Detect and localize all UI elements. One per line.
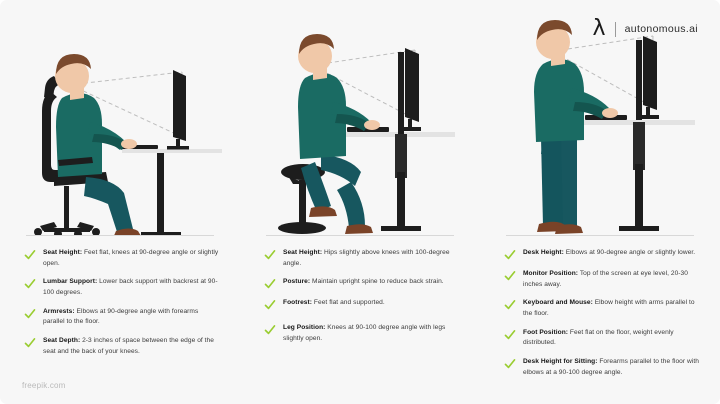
tip-item: Desk Height for Sitting: Forearms parall… xyxy=(504,357,700,378)
check-icon xyxy=(24,308,36,320)
check-icon xyxy=(504,249,516,261)
tip-text: Monitor Position: Top of the screen at e… xyxy=(523,269,700,290)
ergonomics-infographic: λ autonomous.ai xyxy=(0,0,720,404)
saddle-stool-figure xyxy=(255,22,465,236)
tip-item: Monitor Position: Top of the screen at e… xyxy=(504,269,700,290)
tip-detail: Elbows at 90-degree angle or slightly lo… xyxy=(564,249,695,256)
check-icon xyxy=(504,329,516,341)
tip-text: Desk Height for Sitting: Forearms parall… xyxy=(523,357,700,378)
tip-item: Foot Position: Feet flat on the floor, w… xyxy=(504,328,700,349)
standing-desk-figure xyxy=(495,14,705,236)
tip-item: Lumbar Support: Lower back support with … xyxy=(24,277,220,298)
tip-text: Seat Height: Hips slightly above knees w… xyxy=(283,248,460,269)
tip-term: Footrest: xyxy=(283,299,312,306)
check-icon xyxy=(24,337,36,349)
tip-term: Monitor Position: xyxy=(523,270,578,277)
tip-item: Footrest: Feet flat and supported. xyxy=(264,298,460,311)
tip-text: Posture: Maintain upright spine to reduc… xyxy=(283,277,444,288)
tip-text: Keyboard and Mouse: Elbow height with ar… xyxy=(523,298,700,319)
check-icon xyxy=(24,249,36,261)
check-icon xyxy=(264,278,276,290)
tips-list-perched-saddle-stool: Seat Height: Hips slightly above knees w… xyxy=(240,236,480,345)
tip-detail: Maintain upright spine to reduce back st… xyxy=(310,278,444,285)
tip-term: Desk Height for Sitting: xyxy=(523,358,597,365)
freepik-watermark: freepik.com xyxy=(22,381,66,390)
illustration-seated-ergonomic-chair xyxy=(0,0,240,236)
tip-term: Seat Height: xyxy=(43,249,82,256)
check-icon xyxy=(504,270,516,282)
seated-chair-figure xyxy=(10,36,230,236)
tip-term: Armrests: xyxy=(43,308,75,315)
tip-term: Lumbar Support: xyxy=(43,278,97,285)
tip-item: Posture: Maintain upright spine to reduc… xyxy=(264,277,460,290)
tip-term: Keyboard and Mouse: xyxy=(523,299,593,306)
tip-item: Leg Position: Knees at 90-100 degree ang… xyxy=(264,323,460,344)
tip-item: Seat Height: Feet flat, knees at 90-degr… xyxy=(24,248,220,269)
column-seated-ergonomic-chair: Seat Height: Feet flat, knees at 90-degr… xyxy=(0,0,240,404)
tip-term: Seat Height: xyxy=(283,249,322,256)
illustration-standing-desk xyxy=(480,0,720,236)
column-perched-saddle-stool: Seat Height: Hips slightly above knees w… xyxy=(240,0,480,404)
tip-text: Desk Height: Elbows at 90-degree angle o… xyxy=(523,248,695,259)
tip-text: Seat Depth: 2-3 inches of space between … xyxy=(43,336,220,357)
posture-columns: Seat Height: Feet flat, knees at 90-degr… xyxy=(0,0,720,404)
check-icon xyxy=(264,299,276,311)
ground-line xyxy=(26,235,214,236)
tip-item: Seat Depth: 2-3 inches of space between … xyxy=(24,336,220,357)
tips-list-standing-desk: Desk Height: Elbows at 90-degree angle o… xyxy=(480,236,720,378)
tip-term: Leg Position: xyxy=(283,324,325,331)
tip-term: Seat Depth: xyxy=(43,337,80,344)
tip-text: Footrest: Feet flat and supported. xyxy=(283,298,385,309)
tip-item: Desk Height: Elbows at 90-degree angle o… xyxy=(504,248,700,261)
tip-item: Keyboard and Mouse: Elbow height with ar… xyxy=(504,298,700,319)
tip-text: Leg Position: Knees at 90-100 degree ang… xyxy=(283,323,460,344)
check-icon xyxy=(24,278,36,290)
ground-line xyxy=(506,235,694,236)
ground-line xyxy=(266,235,454,236)
check-icon xyxy=(504,358,516,370)
tip-text: Foot Position: Feet flat on the floor, w… xyxy=(523,328,700,349)
tip-item: Seat Height: Hips slightly above knees w… xyxy=(264,248,460,269)
tips-list-seated-ergonomic-chair: Seat Height: Feet flat, knees at 90-degr… xyxy=(0,236,240,357)
tip-term: Desk Height: xyxy=(523,249,564,256)
tip-text: Lumbar Support: Lower back support with … xyxy=(43,277,220,298)
column-standing-desk: Desk Height: Elbows at 90-degree angle o… xyxy=(480,0,720,404)
check-icon xyxy=(264,249,276,261)
check-icon xyxy=(264,324,276,336)
check-icon xyxy=(504,299,516,311)
tip-detail: Feet flat and supported. xyxy=(312,299,385,306)
tip-item: Armrests: Elbows at 90-degree angle with… xyxy=(24,307,220,328)
tip-term: Foot Position: xyxy=(523,329,568,336)
tip-text: Armrests: Elbows at 90-degree angle with… xyxy=(43,307,220,328)
tip-text: Seat Height: Feet flat, knees at 90-degr… xyxy=(43,248,220,269)
illustration-perched-saddle-stool xyxy=(240,0,480,236)
tip-term: Posture: xyxy=(283,278,310,285)
